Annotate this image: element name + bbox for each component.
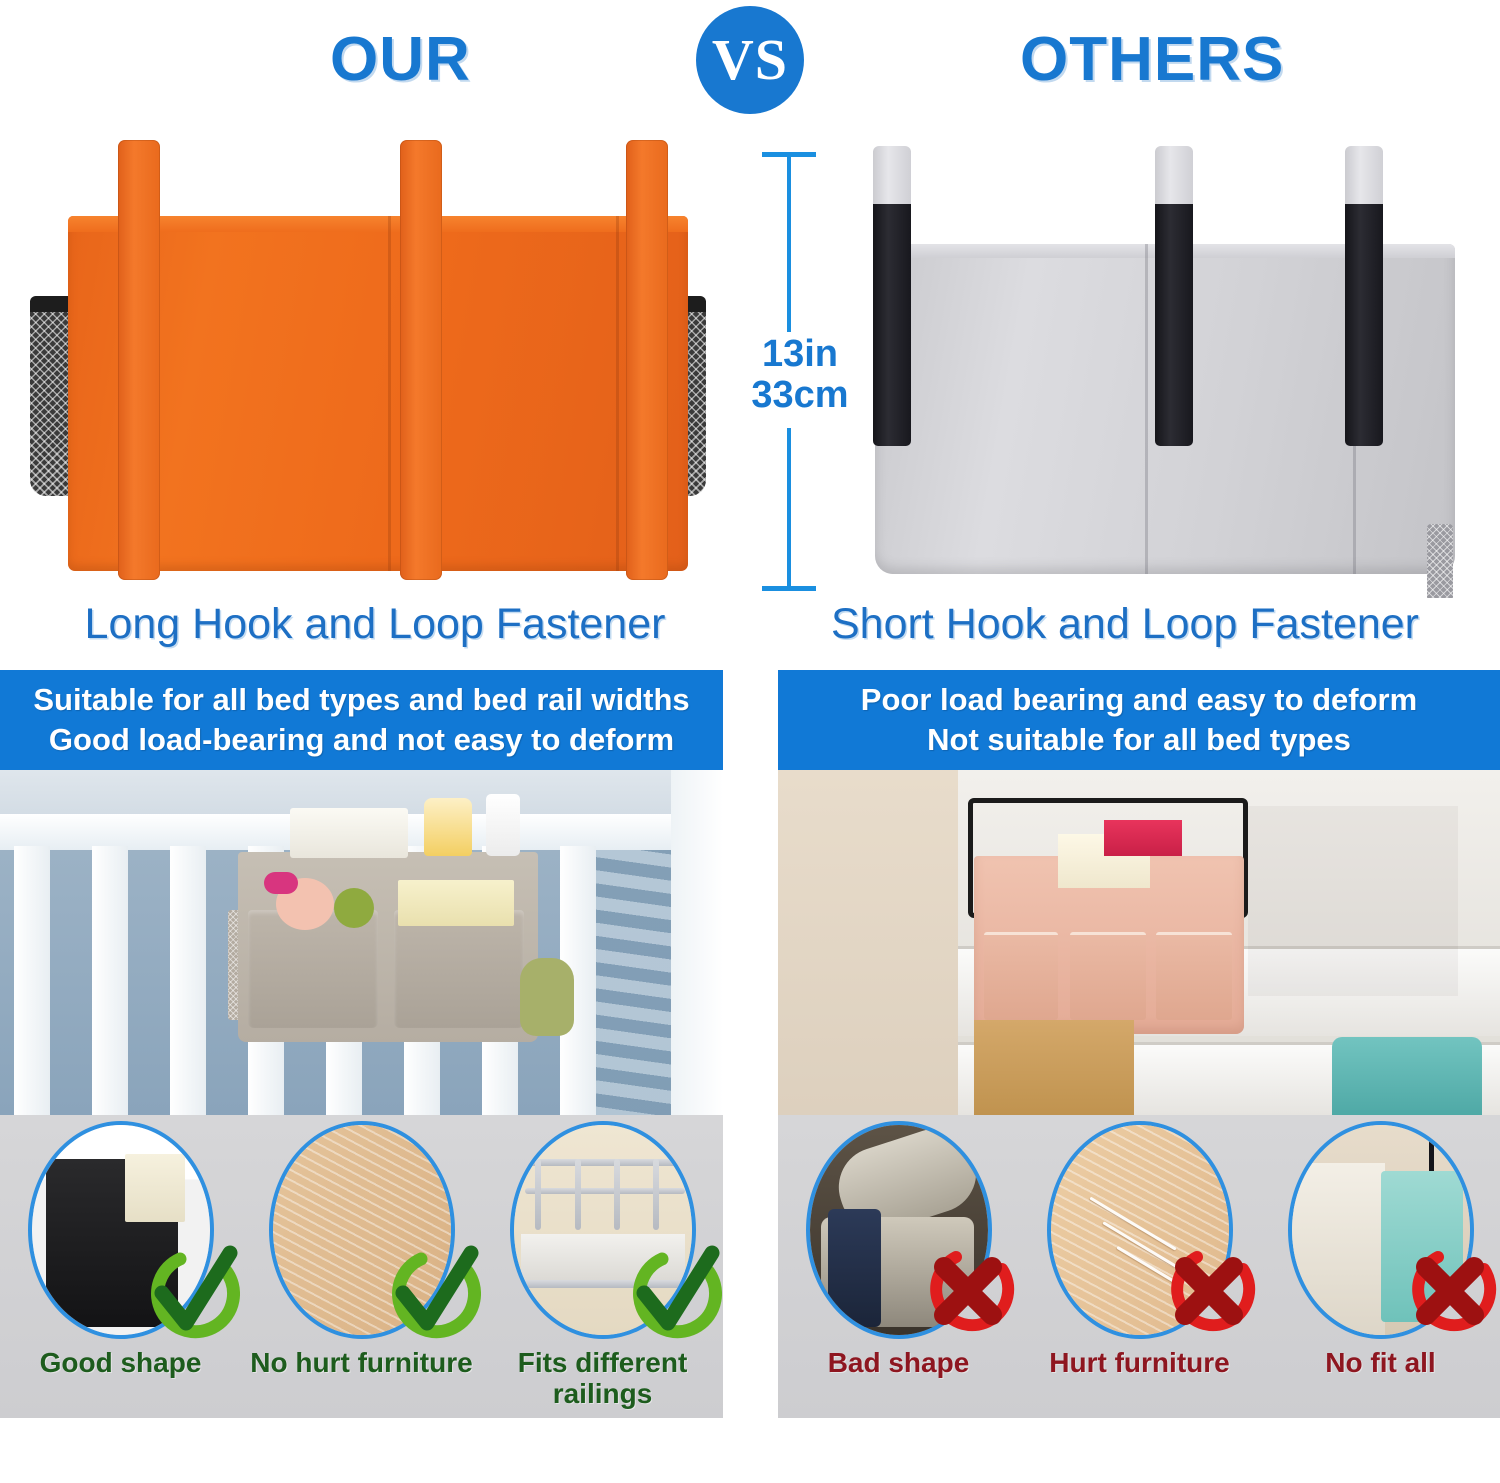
check-icon bbox=[622, 1241, 722, 1341]
plush-toy bbox=[334, 888, 374, 928]
plush-toy bbox=[264, 872, 298, 894]
others-heading: OTHERS bbox=[1020, 24, 1284, 95]
feature-label: No hurt furniture bbox=[241, 1347, 482, 1378]
strap-fabric-section bbox=[1345, 146, 1383, 208]
banner-line-2: Good load-bearing and not easy to deform bbox=[49, 720, 674, 760]
feature-cell: Hurt furniture bbox=[1019, 1115, 1260, 1418]
lotion-pump-bottle bbox=[486, 794, 520, 856]
diaper-stack bbox=[290, 808, 408, 858]
our-heading: OUR bbox=[330, 24, 471, 95]
dimension-cap-bottom bbox=[762, 586, 816, 591]
organizer-seam bbox=[1145, 244, 1148, 574]
other-product-image bbox=[855, 136, 1475, 591]
organizer-seam bbox=[616, 216, 619, 571]
velcro-section bbox=[1155, 204, 1193, 446]
cross-icon bbox=[1159, 1241, 1259, 1341]
banner-line-1: Suitable for all bed types and bed rail … bbox=[33, 680, 689, 720]
feature-label: Fits different railings bbox=[482, 1347, 723, 1410]
cardboard-box bbox=[974, 1020, 1134, 1115]
long-strap bbox=[118, 140, 160, 580]
feature-cell: No hurt furniture bbox=[241, 1115, 482, 1418]
short-strap bbox=[873, 146, 911, 446]
feature-cell: Fits different railings bbox=[482, 1115, 723, 1418]
long-strap bbox=[400, 140, 442, 580]
teal-chair bbox=[1332, 1037, 1482, 1115]
dimension-line-top bbox=[787, 154, 791, 332]
our-benefits-banner: Suitable for all bed types and bed rail … bbox=[0, 670, 723, 770]
velcro-section bbox=[873, 204, 911, 446]
feature-label: Hurt furniture bbox=[1019, 1347, 1260, 1378]
crib-slat bbox=[170, 846, 206, 1115]
bedroom-wall bbox=[778, 770, 958, 1115]
dimension-indicator: 13in 33cm bbox=[740, 138, 860, 593]
bedroom-scene bbox=[778, 770, 1500, 1115]
organizer-pocket bbox=[394, 910, 524, 1028]
our-fastener-title: Long Hook and Loop Fastener bbox=[0, 600, 750, 649]
photo-shadow bbox=[1248, 806, 1458, 996]
organizer-pocket bbox=[984, 932, 1058, 1020]
baby-bottle bbox=[424, 798, 472, 856]
product-row: 13in 33cm bbox=[0, 128, 1500, 598]
fastener-title-row: Long Hook and Loop Fastener Short Hook a… bbox=[0, 598, 1500, 670]
other-lifestyle-photo bbox=[778, 770, 1500, 1115]
long-strap bbox=[626, 140, 668, 580]
magazine bbox=[1104, 820, 1182, 856]
other-fastener-title: Short Hook and Loop Fastener bbox=[750, 600, 1500, 649]
crib-slat bbox=[92, 846, 128, 1115]
short-strap bbox=[1345, 146, 1383, 446]
banner-line-1: Poor load bearing and easy to deform bbox=[861, 680, 1417, 720]
feature-cell: No fit all bbox=[1260, 1115, 1500, 1418]
dimension-label: 13in 33cm bbox=[740, 334, 860, 416]
dimension-centimeters: 33cm bbox=[740, 375, 860, 416]
crib-slat bbox=[14, 846, 50, 1115]
other-drawbacks-banner: Poor load bearing and easy to deform Not… bbox=[778, 670, 1500, 770]
cross-icon bbox=[1400, 1241, 1500, 1341]
cross-icon bbox=[918, 1241, 1018, 1341]
our-feature-panel: Good shape No hurt furniture bbox=[0, 1115, 723, 1418]
feature-label: Bad shape bbox=[778, 1347, 1019, 1378]
beige-organizer bbox=[238, 852, 538, 1042]
banner-line-2: Not suitable for all bed types bbox=[927, 720, 1351, 760]
organizer-seam bbox=[388, 216, 391, 571]
wipes-package bbox=[398, 880, 514, 926]
feature-label: No fit all bbox=[1260, 1347, 1500, 1378]
feature-cell: Good shape bbox=[0, 1115, 241, 1418]
check-icon bbox=[381, 1241, 481, 1341]
organizer-pocket bbox=[1156, 932, 1232, 1020]
short-strap bbox=[1155, 146, 1193, 446]
vs-label: VS bbox=[712, 31, 788, 89]
our-product-image bbox=[18, 136, 718, 591]
organizer-pocket bbox=[1070, 932, 1146, 1020]
banner-row: Suitable for all bed types and bed rail … bbox=[0, 670, 1500, 770]
feature-label: Good shape bbox=[0, 1347, 241, 1378]
velcro-section bbox=[1345, 204, 1383, 446]
comparison-infographic: OUR VS OTHERS 13in 33cm bbox=[0, 0, 1500, 1483]
our-lifestyle-photo bbox=[0, 770, 723, 1115]
header: OUR VS OTHERS bbox=[0, 0, 1500, 128]
nursery-scene bbox=[0, 770, 723, 1115]
feature-icon-row: Good shape No hurt furniture bbox=[0, 1115, 1500, 1418]
crib-frame bbox=[671, 770, 723, 1115]
feature-cell: Bad shape bbox=[778, 1115, 1019, 1418]
organizer-body bbox=[68, 216, 688, 571]
strap-fabric-section bbox=[1155, 146, 1193, 208]
strap-fabric-section bbox=[873, 146, 911, 208]
dimension-inches: 13in bbox=[740, 334, 860, 375]
hanging-plush-toy bbox=[520, 958, 574, 1036]
pink-organizer bbox=[974, 856, 1244, 1034]
other-feature-panel: Bad shape Hurt furniture bbox=[778, 1115, 1500, 1418]
check-icon bbox=[140, 1241, 240, 1341]
vs-badge: VS bbox=[696, 6, 804, 114]
lifestyle-photo-row bbox=[0, 770, 1500, 1115]
dimension-line-bottom bbox=[787, 428, 791, 588]
